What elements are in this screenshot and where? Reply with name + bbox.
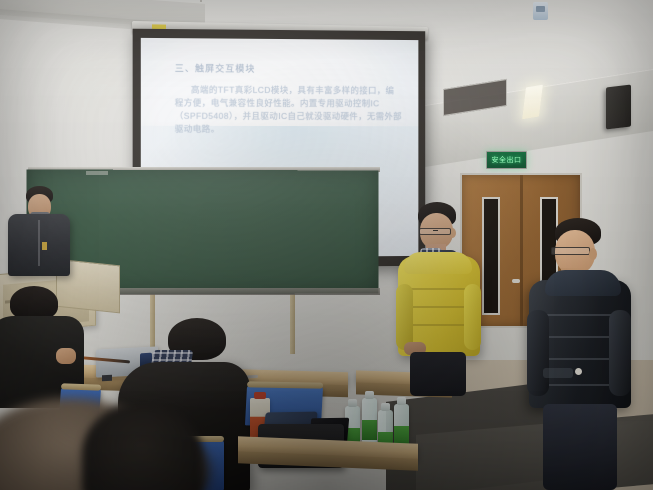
projector-foot [102,375,112,382]
yellow-man-arm-left [396,284,413,350]
slide-title: 三、触屏交互模块 [175,62,402,77]
exit-sign-label: 安全出口 [492,157,522,164]
student-left-hair [10,286,58,320]
yellow-man-trousers [410,352,466,396]
door-handle[interactable] [512,279,520,283]
slide-content: 三、触屏交互模块 高端的TFT真彩LCD模块，具有丰富多样的接口，编程方便，电气… [175,62,402,136]
glasses-icon [551,247,590,255]
foreground-head-right [82,404,202,490]
emergency-exit-sign: 安全出口 [486,151,527,169]
man-black-jacket [527,218,633,490]
black-jacket-pocket [543,368,573,378]
presenter-jacket-zip [38,220,40,266]
black-jacket-button [575,368,582,375]
black-man-trousers [543,404,617,490]
black-man-arm-right [609,310,631,396]
black-man-arm-left [527,310,549,396]
door-window-left [482,197,500,315]
black-man-ear [589,248,597,260]
presenter-badge [42,242,47,250]
glasses-bridge [433,230,438,231]
slide-body: 高端的TFT真彩LCD模块，具有丰富多样的接口，编程方便，电气兼容性良好性能。内… [175,83,402,136]
ceiling-drop-rod [200,0,202,2]
black-jacket-hood [545,270,621,296]
presenter-at-podium [8,186,70,282]
man-yellow-jacket [396,202,482,388]
chalkboard-clip [86,171,108,175]
yellow-man-arm-right [464,284,481,350]
wall-speaker-icon [606,84,631,129]
door-center-seam [520,175,523,326]
classroom-photo: 三、触屏交互模块 高端的TFT真彩LCD模块，具有丰富多样的接口，编程方便，电气… [0,0,653,490]
yellow-jacket-hood [404,252,472,274]
wall-sensor-icon [533,2,548,20]
student-left-hand [56,348,76,364]
